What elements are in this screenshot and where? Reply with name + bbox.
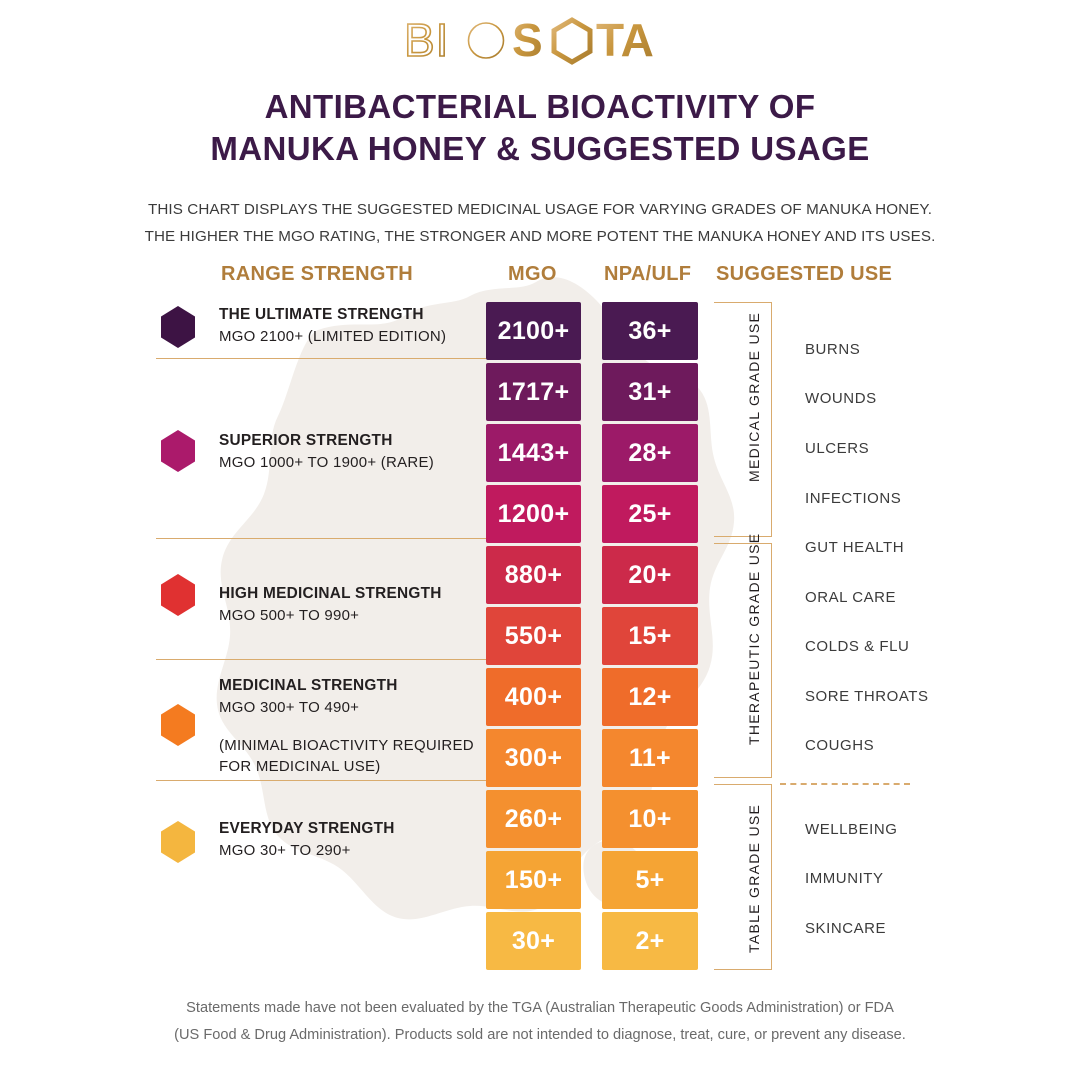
svg-text:BI: BI xyxy=(404,14,449,66)
npa-cell: 31+ xyxy=(602,363,698,421)
hexagon-superior-strength xyxy=(158,429,198,473)
column-header-suggested-use: SUGGESTED USE xyxy=(716,263,892,286)
hexagon-medicinal-strength xyxy=(158,703,198,747)
group-name: EVERYDAY STRENGTH xyxy=(219,819,494,840)
group-everyday-strength: EVERYDAY STRENGTH MGO 30+ TO 290+ xyxy=(219,819,494,861)
group-range: MGO 1000+ TO 1900+ (RARE) xyxy=(219,452,494,473)
use-list-dashed-divider xyxy=(780,783,910,785)
footer-line-1: Statements made have not been evaluated … xyxy=(0,995,1080,1022)
group-ultimate-strength: THE ULTIMATE STRENGTH MGO 2100+ (LIMITED… xyxy=(219,305,494,347)
hexagon-high-medicinal-strength xyxy=(158,573,198,617)
group-divider-4 xyxy=(156,780,486,781)
suggested-use-item: SORE THROATS xyxy=(805,688,929,705)
group-superior-strength: SUPERIOR STRENGTH MGO 1000+ TO 1900+ (RA… xyxy=(219,431,494,473)
suggested-use-item: WELLBEING xyxy=(805,821,897,838)
mgo-cell: 260+ xyxy=(486,790,581,848)
suggested-use-item: COUGHS xyxy=(805,737,874,754)
npa-cell: 28+ xyxy=(602,424,698,482)
group-name: SUPERIOR STRENGTH xyxy=(219,431,494,452)
column-header-range-strength: RANGE STRENGTH xyxy=(221,263,413,286)
mgo-cell: 150+ xyxy=(486,851,581,909)
suggested-use-item: SKINCARE xyxy=(805,920,886,937)
group-range: MGO 2100+ (LIMITED EDITION) xyxy=(219,326,494,347)
suggested-use-item: ULCERS xyxy=(805,440,869,457)
mgo-cell: 30+ xyxy=(486,912,581,970)
group-divider-2 xyxy=(156,538,486,539)
suggested-use-item: IMMUNITY xyxy=(805,870,884,887)
grade-label-therapeutic: THERAPEUTIC GRADE USE xyxy=(746,533,762,745)
footer-disclaimer: Statements made have not been evaluated … xyxy=(0,995,1080,1049)
subtitle-line-2: THE HIGHER THE MGO RATING, THE STRONGER … xyxy=(0,223,1080,250)
brand-logo: BI S TA xyxy=(0,14,1080,72)
group-note-line-2: FOR MEDICINAL USE) xyxy=(219,756,494,777)
page-subtitle: THIS CHART DISPLAYS THE SUGGESTED MEDICI… xyxy=(0,196,1080,250)
bracket-table-grade xyxy=(712,784,772,970)
page-title: ANTIBACTERIAL BIOACTIVITY OF MANUKA HONE… xyxy=(0,86,1080,170)
group-range: MGO 300+ TO 490+ xyxy=(219,697,494,718)
bracket-medical-grade xyxy=(712,302,772,537)
mgo-cell: 400+ xyxy=(486,668,581,726)
biosota-logo-mark: BI S TA xyxy=(400,14,680,70)
mgo-cell: 1717+ xyxy=(486,363,581,421)
group-note-line-1: (MINIMAL BIOACTIVITY REQUIRED xyxy=(219,735,494,756)
group-medicinal-strength: MEDICINAL STRENGTH MGO 300+ TO 490+ (MIN… xyxy=(219,676,494,777)
suggested-use-item: WOUNDS xyxy=(805,390,877,407)
svg-text:S: S xyxy=(512,14,543,66)
group-range: MGO 500+ TO 990+ xyxy=(219,605,494,626)
suggested-use-item: INFECTIONS xyxy=(805,490,901,507)
npa-cell: 11+ xyxy=(602,729,698,787)
npa-cell: 20+ xyxy=(602,546,698,604)
npa-cell: 5+ xyxy=(602,851,698,909)
title-line-2: MANUKA HONEY & SUGGESTED USAGE xyxy=(0,128,1080,170)
group-range: MGO 30+ TO 290+ xyxy=(219,840,494,861)
svg-text:TA: TA xyxy=(596,14,654,66)
mgo-cell: 1200+ xyxy=(486,485,581,543)
npa-cell: 25+ xyxy=(602,485,698,543)
suggested-use-item: ORAL CARE xyxy=(805,589,896,606)
group-divider-3 xyxy=(156,659,486,660)
suggested-use-item: COLDS & FLU xyxy=(805,638,909,655)
group-name: MEDICINAL STRENGTH xyxy=(219,676,494,697)
mgo-cell: 880+ xyxy=(486,546,581,604)
suggested-use-item: GUT HEALTH xyxy=(805,539,904,556)
group-name: HIGH MEDICINAL STRENGTH xyxy=(219,584,494,605)
subtitle-line-1: THIS CHART DISPLAYS THE SUGGESTED MEDICI… xyxy=(0,196,1080,223)
column-header-mgo: MGO xyxy=(508,263,557,286)
mgo-cell: 1443+ xyxy=(486,424,581,482)
npa-cell: 36+ xyxy=(602,302,698,360)
bracket-therapeutic-grade xyxy=(712,543,772,778)
npa-cell: 15+ xyxy=(602,607,698,665)
hexagon-everyday-strength xyxy=(158,820,198,864)
npa-cell: 2+ xyxy=(602,912,698,970)
grade-label-medical: MEDICAL GRADE USE xyxy=(746,312,762,482)
grade-label-table: TABLE GRADE USE xyxy=(746,804,762,953)
column-header-npa-ulf: NPA/ULF xyxy=(604,263,691,286)
npa-cell: 10+ xyxy=(602,790,698,848)
group-name: THE ULTIMATE STRENGTH xyxy=(219,305,494,326)
mgo-cell: 300+ xyxy=(486,729,581,787)
title-line-1: ANTIBACTERIAL BIOACTIVITY OF xyxy=(265,88,816,125)
footer-line-2: (US Food & Drug Administration). Product… xyxy=(0,1022,1080,1049)
mgo-cell: 550+ xyxy=(486,607,581,665)
mgo-cell: 2100+ xyxy=(486,302,581,360)
hexagon-ultimate-strength xyxy=(158,305,198,349)
group-high-medicinal-strength: HIGH MEDICINAL STRENGTH MGO 500+ TO 990+ xyxy=(219,584,494,626)
suggested-use-item: BURNS xyxy=(805,341,860,358)
group-divider-1 xyxy=(156,358,486,359)
npa-cell: 12+ xyxy=(602,668,698,726)
